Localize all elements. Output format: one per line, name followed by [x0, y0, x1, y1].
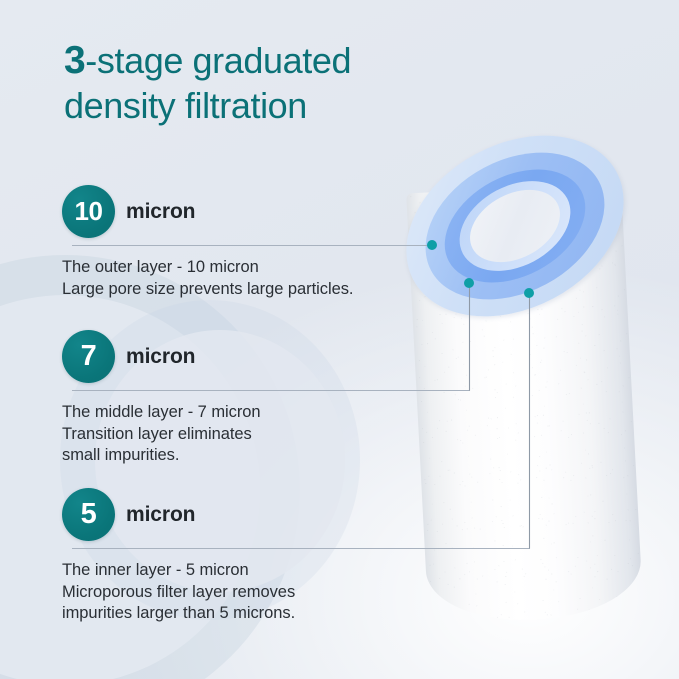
description-10-micron: The outer layer - 10 micron Large pore s…: [62, 257, 353, 300]
badge-5-micron: 5: [62, 488, 115, 541]
unit-label-7-micron: micron: [126, 345, 195, 369]
description-5-micron: The inner layer - 5 micron Microporous f…: [62, 560, 295, 625]
layer-block-7-micron: 7 micron The middle layer - 7 micron Tra…: [62, 330, 261, 467]
badge-7-micron: 7: [62, 330, 115, 383]
callout-dot-5-micron: [524, 288, 534, 298]
badge-row-7-micron: 7 micron: [62, 330, 261, 383]
layer-block-10-micron: 10 micron The outer layer - 10 micron La…: [62, 185, 353, 300]
description-7-micron: The middle layer - 7 micron Transition l…: [62, 402, 261, 467]
layer-block-5-micron: 5 micron The inner layer - 5 micron Micr…: [62, 488, 295, 625]
unit-label-10-micron: micron: [126, 200, 195, 224]
unit-label-5-micron: micron: [126, 503, 195, 527]
callout-dot-7-micron: [464, 278, 474, 288]
infographic-canvas: 3-stage graduated density filtration 10 …: [0, 0, 679, 679]
badge-row-5-micron: 5 micron: [62, 488, 295, 541]
callout-dot-10-micron: [427, 240, 437, 250]
badge-row-10-micron: 10 micron: [62, 185, 353, 238]
badge-10-micron: 10: [62, 185, 115, 238]
